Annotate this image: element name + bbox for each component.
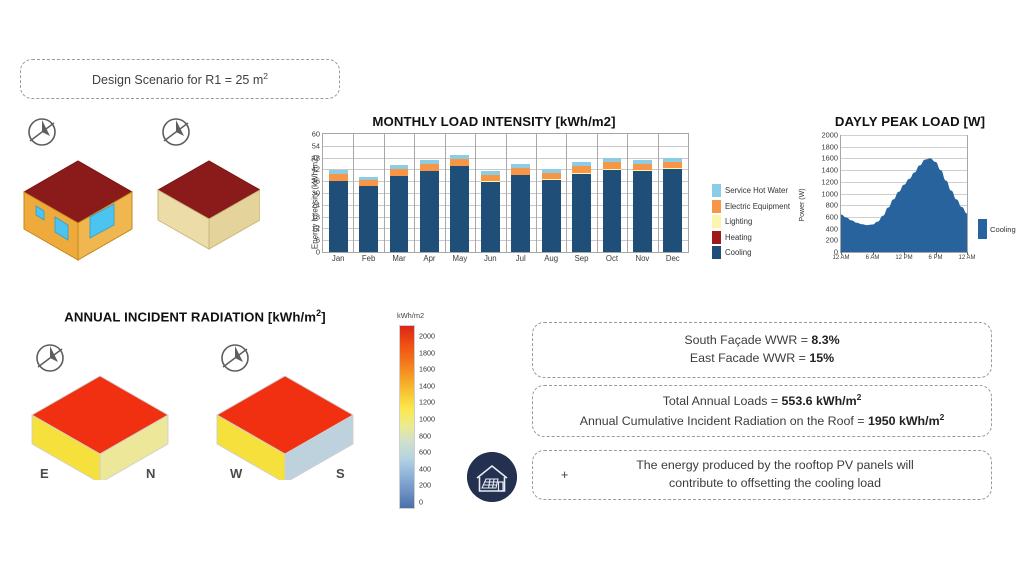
daily-y-axis-label: Power (W) <box>799 188 806 221</box>
x-axis-tick: 6 PM <box>928 255 942 261</box>
legend-item: Heating <box>712 230 812 246</box>
bar-segment-electric-equipment <box>572 166 591 173</box>
legend-swatch <box>712 246 721 259</box>
colorbar-tick: 1400 <box>419 382 435 389</box>
colorbar-tick: 2000 <box>419 332 435 339</box>
x-axis-tick: 12 PM <box>895 255 912 261</box>
gridline-v <box>597 134 598 252</box>
pv-line-2: contribute to offsetting the cooling loa… <box>636 475 914 493</box>
direction-label-e: E <box>40 466 49 481</box>
radiation-cube-west-south <box>217 376 353 480</box>
y-axis-tick: 800 <box>826 201 838 208</box>
solar-house-icon <box>467 452 517 502</box>
pv-lines: The energy produced by the rooftop PV pa… <box>636 457 914 493</box>
gridline-v <box>384 134 385 252</box>
loads-radiation-label: Annual Cumulative Incident Radiation on … <box>580 414 868 428</box>
x-axis-tick: Jun <box>484 255 497 263</box>
y-axis-tick: 36 <box>312 177 320 184</box>
gridline-v <box>445 134 446 252</box>
building-model-plain <box>158 161 260 249</box>
daily-peak-load-chart: Power (W) 020040060080010001200140016001… <box>806 133 1014 271</box>
colorbar-tick: 1200 <box>419 399 435 406</box>
y-axis-tick: 6 <box>316 236 320 243</box>
y-axis-tick: 1200 <box>822 178 838 185</box>
daily-chart-title: DAYLY PEAK LOAD [W] <box>806 114 1014 129</box>
pv-bullet: + <box>561 468 568 482</box>
legend-swatch <box>712 200 721 213</box>
bar-segment-cooling <box>481 182 500 252</box>
colorbar-tick: 0 <box>419 498 423 505</box>
y-axis-tick: 2000 <box>822 131 838 138</box>
north-arrow-icon-4 <box>222 345 248 371</box>
monthly-load-chart: Energy Intensity (kWh/m2) 06121824303642… <box>290 133 698 271</box>
legend-swatch <box>712 215 721 228</box>
radiation-cube-east-north <box>32 376 168 480</box>
gridline-v <box>627 134 628 252</box>
scenario-exponent: 2 <box>263 71 268 81</box>
bar-column <box>359 177 378 252</box>
bar-segment-electric-equipment <box>603 162 622 169</box>
gridline-v <box>536 134 537 252</box>
x-axis-tick: Jan <box>332 255 345 263</box>
y-axis-tick: 24 <box>312 201 320 208</box>
colorbar-tick: 200 <box>419 482 431 489</box>
x-tick-mark <box>936 252 937 255</box>
loads-total-label: Total Annual Loads = <box>663 394 782 408</box>
x-axis-tick: Apr <box>423 255 435 263</box>
x-axis-tick: 6 AM <box>866 255 880 261</box>
bar-column <box>390 165 409 252</box>
x-axis-tick: Nov <box>635 255 649 263</box>
wwr-south-label: South Façade WWR = <box>684 333 811 347</box>
bar-segment-cooling <box>633 171 652 252</box>
gridline-v <box>353 134 354 252</box>
wwr-lines: South Façade WWR = 8.3% East Facade WWR … <box>684 332 839 368</box>
gridline-v <box>414 134 415 252</box>
y-axis-tick: 0 <box>316 248 320 255</box>
bar-segment-cooling <box>450 166 469 252</box>
bar-segment-electric-equipment <box>511 168 530 175</box>
x-axis-tick: Dec <box>666 255 680 263</box>
legend-label: Lighting <box>725 217 752 226</box>
wwr-east-value: 15% <box>809 351 834 365</box>
direction-label-n: N <box>146 466 155 481</box>
colorbar-title: kWh/m2 <box>397 311 424 320</box>
legend-item: Lighting <box>712 214 812 230</box>
pv-line-1: The energy produced by the rooftop PV pa… <box>636 457 914 475</box>
y-axis-tick: 12 <box>312 225 320 232</box>
legend-item: Cooling <box>712 245 812 261</box>
y-axis-tick: 1600 <box>822 155 838 162</box>
direction-label-w: W <box>230 466 242 481</box>
x-axis-tick: 12 AM <box>832 255 849 261</box>
north-arrow-icon-3 <box>37 345 63 371</box>
bar-column <box>663 158 682 252</box>
bar-column <box>450 155 469 252</box>
wwr-south-value: 8.3% <box>811 333 839 347</box>
bar-column <box>481 171 500 252</box>
radiation-title: ANNUAL INCIDENT RADIATION [kWh/m2] <box>20 308 370 324</box>
x-axis-tick: Jul <box>516 255 526 263</box>
colorbar-tick: 600 <box>419 449 431 456</box>
bar-column <box>633 160 652 252</box>
radiation-colorbar: 2000180016001400120010008006004002000 <box>399 325 415 509</box>
x-tick-mark <box>967 252 968 255</box>
bar-segment-cooling <box>359 186 378 252</box>
y-axis-tick: 42 <box>312 166 320 173</box>
monthly-chart-legend: Service Hot WaterElectric EquipmentLight… <box>712 183 812 261</box>
y-axis-tick: 400 <box>826 225 838 232</box>
bar-segment-cooling <box>542 180 561 252</box>
colorbar-tick: 1600 <box>419 366 435 373</box>
monthly-chart-title: MONTHLY LOAD INTENSITY [kWh/m2] <box>290 114 698 129</box>
bar-segment-cooling <box>663 169 682 252</box>
radiation-title-end: ] <box>321 309 326 324</box>
bar-segment-cooling <box>572 174 591 252</box>
bar-segment-cooling <box>511 175 530 252</box>
daily-plot-area: 020040060080010001200140016001800200012 … <box>840 135 968 253</box>
loads-line-radiation: Annual Cumulative Incident Radiation on … <box>580 411 945 431</box>
bar-column <box>603 158 622 252</box>
loads-radiation-value: 1950 kWh/m2 <box>868 414 944 428</box>
y-axis-tick: 60 <box>312 130 320 137</box>
gridline-v <box>566 134 567 252</box>
daily-legend-label: Cooling <box>990 225 1016 234</box>
y-axis-tick: 1800 <box>822 143 838 150</box>
y-axis-tick: 54 <box>312 142 320 149</box>
wwr-east-label: East Facade WWR = <box>690 351 809 365</box>
y-axis-tick: 48 <box>312 154 320 161</box>
daily-legend-swatch <box>978 219 987 239</box>
legend-label: Service Hot Water <box>725 186 788 195</box>
x-axis-tick: May <box>453 255 468 263</box>
x-tick-mark <box>904 252 905 255</box>
y-axis-tick: 18 <box>312 213 320 220</box>
gridline-v <box>475 134 476 252</box>
colorbar-tick: 1800 <box>419 349 435 356</box>
x-axis-tick: Mar <box>392 255 405 263</box>
x-axis-tick: Sep <box>575 255 589 263</box>
colorbar-tick: 800 <box>419 432 431 439</box>
y-axis-tick: 200 <box>826 237 838 244</box>
north-arrow-icon-2 <box>163 119 189 145</box>
wwr-line-south: South Façade WWR = 8.3% <box>684 332 839 350</box>
x-tick-mark <box>841 252 842 255</box>
y-axis-tick: 30 <box>312 189 320 196</box>
radiation-models-group <box>10 340 380 480</box>
x-axis-tick: Feb <box>362 255 375 263</box>
direction-label-s: S <box>336 466 345 481</box>
loads-info-box: Total Annual Loads = 553.6 kWh/m2 Annual… <box>532 385 992 437</box>
y-axis-tick: 600 <box>826 213 838 220</box>
bar-column <box>511 164 530 252</box>
building-models-group <box>10 112 260 277</box>
monthly-plot-area: 06121824303642485460JanFebMarAprMayJunJu… <box>322 133 689 253</box>
bar-column <box>542 169 561 252</box>
bar-column <box>420 160 439 252</box>
legend-swatch <box>712 231 721 244</box>
colorbar-tick: 1000 <box>419 415 435 422</box>
gridline-v <box>658 134 659 252</box>
legend-label: Heating <box>725 233 752 242</box>
wwr-line-east: East Facade WWR = 15% <box>684 350 839 368</box>
x-axis-tick: Aug <box>544 255 558 263</box>
bar-segment-cooling <box>329 181 348 252</box>
x-tick-mark <box>873 252 874 255</box>
loads-total-value: 553.6 kWh/m2 <box>782 394 862 408</box>
loads-line-total: Total Annual Loads = 553.6 kWh/m2 <box>580 391 945 411</box>
radiation-title-main: ANNUAL INCIDENT RADIATION [kWh/m <box>64 309 316 324</box>
legend-label: Electric Equipment <box>725 202 790 211</box>
legend-label: Cooling <box>725 248 751 257</box>
scenario-callout: Design Scenario for R1 = 25 m2 <box>20 59 340 99</box>
y-axis-tick: 1400 <box>822 166 838 173</box>
bar-segment-cooling <box>390 176 409 252</box>
daily-area-series <box>841 135 967 252</box>
building-model-glazed <box>24 161 132 260</box>
scenario-text: Design Scenario for R1 = 25 m2 <box>92 71 268 87</box>
pv-info-box: + The energy produced by the rooftop PV … <box>532 450 992 500</box>
bar-segment-cooling <box>420 171 439 252</box>
y-axis-tick: 1000 <box>822 190 838 197</box>
bar-column <box>329 170 348 252</box>
scenario-label: Design Scenario for R1 = 25 m <box>92 73 263 87</box>
loads-lines: Total Annual Loads = 553.6 kWh/m2 Annual… <box>580 391 945 431</box>
x-axis-tick: 12 AM <box>958 255 975 261</box>
legend-item: Service Hot Water <box>712 183 812 199</box>
legend-item: Electric Equipment <box>712 199 812 215</box>
bar-segment-cooling <box>603 170 622 252</box>
north-arrow-icon-1 <box>29 119 55 145</box>
wwr-info-box: South Façade WWR = 8.3% East Facade WWR … <box>532 322 992 378</box>
daily-chart-legend: Cooling <box>978 219 1016 239</box>
gridline-v <box>506 134 507 252</box>
legend-swatch <box>712 184 721 197</box>
x-axis-tick: Oct <box>606 255 618 263</box>
bar-column <box>572 162 591 252</box>
colorbar-tick: 400 <box>419 465 431 472</box>
bar-segment-electric-equipment <box>420 164 439 171</box>
